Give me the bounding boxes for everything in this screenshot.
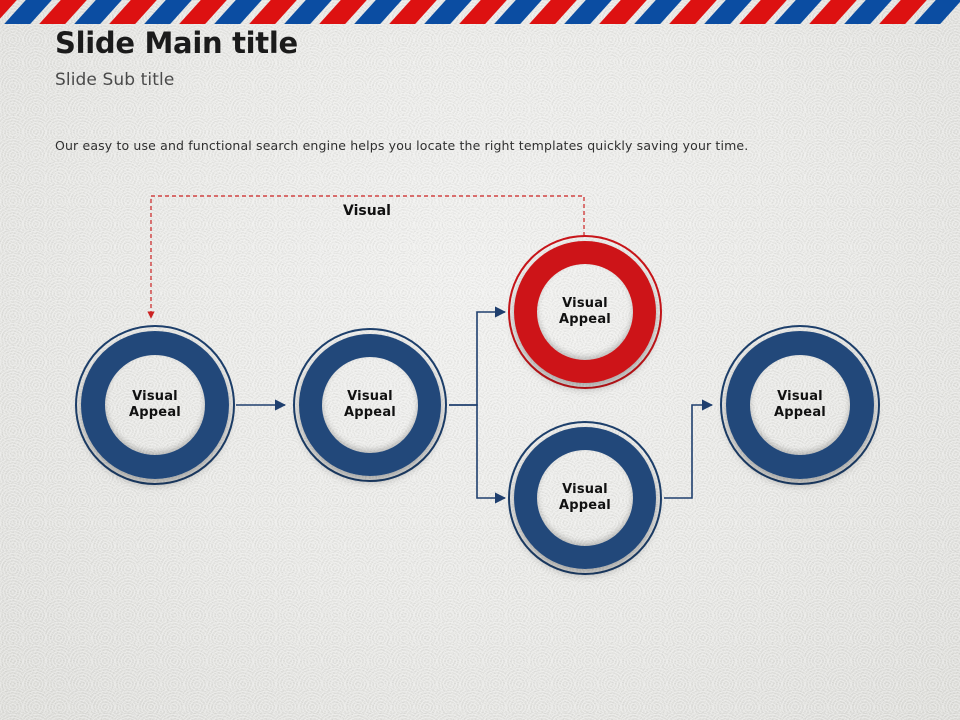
slide-header: Slide Main title Slide Sub title [55, 28, 298, 90]
body-paragraph: Our easy to use and functional search en… [55, 138, 748, 153]
diagonal-stripe-band [0, 0, 960, 24]
diagram-node-5[interactable]: VisualAppeal [720, 325, 880, 485]
diagram-node-3[interactable]: VisualAppeal [508, 235, 662, 389]
diagram-node-1[interactable]: VisualAppeal [75, 325, 235, 485]
connector-node4-to-node5 [664, 405, 712, 498]
node-donut-icon [514, 241, 656, 383]
connector-node2-to-node4 [449, 405, 505, 498]
page-subtitle: Slide Sub title [55, 70, 298, 90]
node-donut-icon [81, 331, 229, 479]
slide-canvas: Slide Main title Slide Sub title Our eas… [0, 0, 960, 720]
page-title: Slide Main title [55, 28, 298, 60]
connector-node2-to-node3 [449, 312, 505, 405]
diagram-node-2[interactable]: VisualAppeal [293, 328, 447, 482]
diagram-node-4[interactable]: VisualAppeal [508, 421, 662, 575]
node-donut-icon [514, 427, 656, 569]
process-flow-diagram: Visual VisualAppealVisualAppealVisualApp… [0, 0, 960, 720]
flow-label-visual: Visual [343, 203, 391, 219]
node-donut-icon [726, 331, 874, 479]
node-donut-icon [299, 334, 441, 476]
